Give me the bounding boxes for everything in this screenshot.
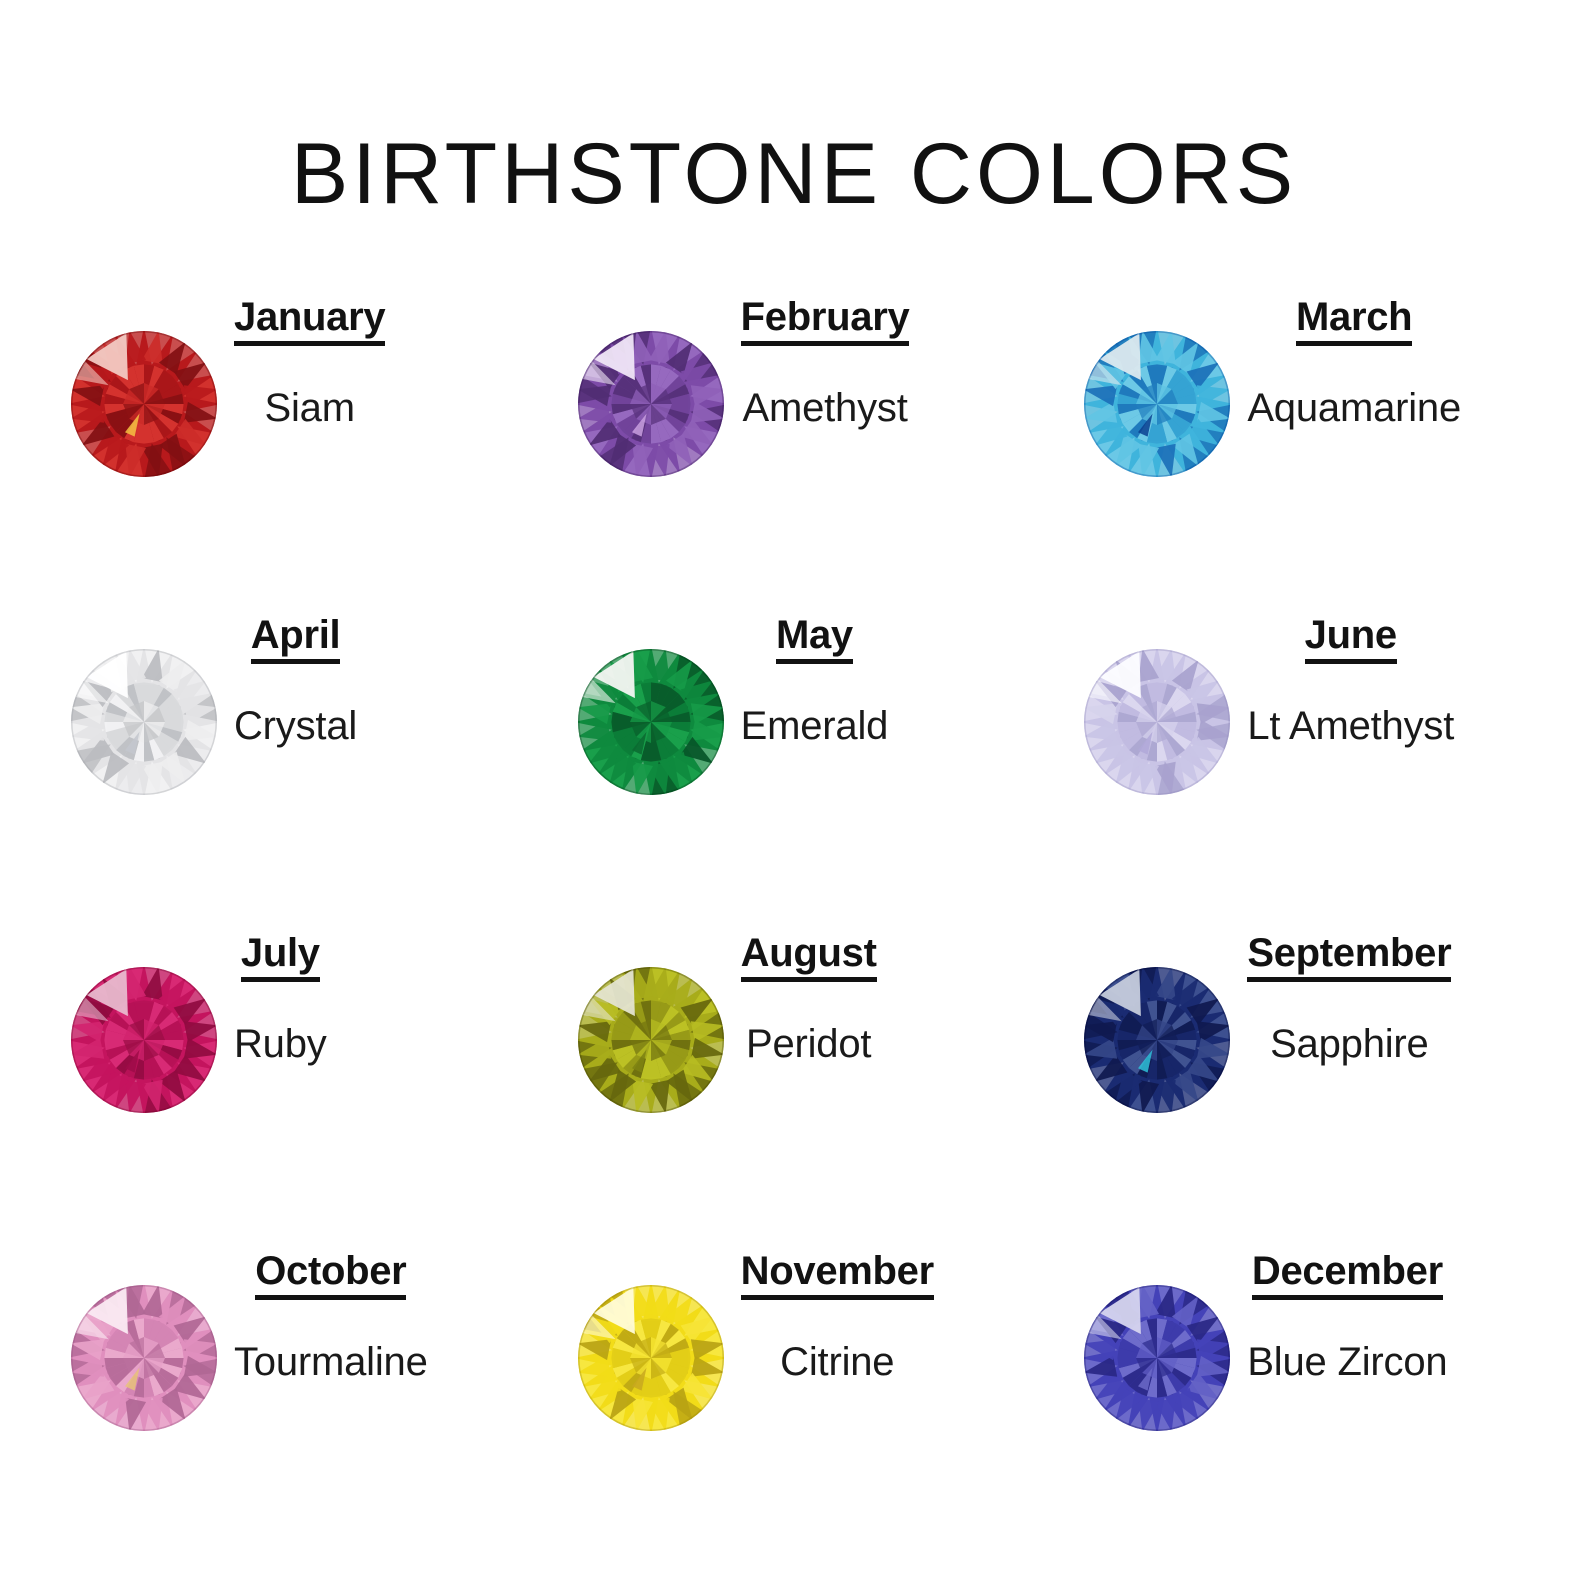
month-underline [741, 341, 910, 346]
stone-name-label: Lt Amethyst [1247, 704, 1454, 749]
birthstone-labels: FebruaryAmethyst [741, 296, 910, 431]
gem-blue-zircon-icon [1081, 1282, 1233, 1434]
month-label: May [776, 614, 853, 656]
stone-name-label: Peridot [746, 1022, 871, 1067]
stone-name-label: Ruby [234, 1022, 327, 1067]
month-label: February [741, 296, 910, 338]
birthstone-labels: AugustPeridot [741, 932, 877, 1067]
gem-aquamarine-icon [1081, 328, 1233, 480]
stone-name-label: Sapphire [1270, 1022, 1429, 1067]
birthstone-cell: AugustPeridot [547, 916, 1054, 1234]
month-label: June [1305, 614, 1397, 656]
month-label-wrap: May [776, 614, 853, 664]
month-label-wrap: August [741, 932, 877, 982]
birthstone-labels: JanuarySiam [234, 296, 385, 431]
month-underline [1247, 977, 1451, 982]
birthstone-grid: JanuarySiamFebruaryAmethystMarchAquamari… [40, 280, 1560, 1552]
birthstone-cell: DecemberBlue Zircon [1053, 1234, 1560, 1552]
month-label-wrap: October [255, 1250, 406, 1300]
birthstone-cell: MayEmerald [547, 598, 1054, 916]
month-label: October [255, 1250, 406, 1292]
stone-name-label: Citrine [780, 1340, 894, 1385]
month-underline [1296, 341, 1412, 346]
month-label-wrap: April [251, 614, 341, 664]
birthstone-chart-page: BIRTHSTONE COLORS JanuarySiamFebruaryAme… [0, 0, 1588, 1587]
stone-name-label: Amethyst [742, 386, 907, 431]
stone-name-label: Siam [264, 386, 354, 431]
month-underline [741, 1295, 934, 1300]
birthstone-labels: DecemberBlue Zircon [1247, 1250, 1447, 1385]
birthstone-cell: JanuarySiam [40, 280, 547, 598]
month-label-wrap: June [1305, 614, 1397, 664]
birthstone-labels: JulyRuby [234, 932, 327, 1067]
birthstone-labels: JuneLt Amethyst [1247, 614, 1454, 749]
month-underline [741, 977, 877, 982]
stone-name-label: Emerald [741, 704, 889, 749]
gem-citrine-icon [575, 1282, 727, 1434]
month-label: April [251, 614, 341, 656]
month-label: January [234, 296, 385, 338]
month-label: March [1296, 296, 1412, 338]
birthstone-labels: OctoberTourmaline [234, 1250, 428, 1385]
birthstone-cell: MarchAquamarine [1053, 280, 1560, 598]
month-label-wrap: November [741, 1250, 934, 1300]
birthstone-labels: NovemberCitrine [741, 1250, 934, 1385]
gem-amethyst-icon [575, 328, 727, 480]
birthstone-labels: MarchAquamarine [1247, 296, 1461, 431]
birthstone-cell: JulyRuby [40, 916, 547, 1234]
month-underline [255, 1295, 406, 1300]
month-underline [234, 341, 385, 346]
month-underline [1252, 1295, 1443, 1300]
month-label: September [1247, 932, 1451, 974]
month-label: August [741, 932, 877, 974]
birthstone-cell: JuneLt Amethyst [1053, 598, 1560, 916]
birthstone-cell: FebruaryAmethyst [547, 280, 1054, 598]
birthstone-cell: AprilCrystal [40, 598, 547, 916]
stone-name-label: Aquamarine [1247, 386, 1461, 431]
gem-ruby-icon [68, 964, 220, 1116]
stone-name-label: Crystal [234, 704, 357, 749]
birthstone-labels: AprilCrystal [234, 614, 357, 749]
stone-name-label: Tourmaline [234, 1340, 428, 1385]
month-label: December [1252, 1250, 1443, 1292]
month-label-wrap: December [1252, 1250, 1443, 1300]
gem-lt-amethyst-icon [1081, 646, 1233, 798]
gem-siam-icon [68, 328, 220, 480]
month-label-wrap: March [1296, 296, 1412, 346]
gem-sapphire-icon [1081, 964, 1233, 1116]
month-label-wrap: January [234, 296, 385, 346]
month-label: November [741, 1250, 934, 1292]
birthstone-labels: MayEmerald [741, 614, 889, 749]
gem-peridot-icon [575, 964, 727, 1116]
month-underline [241, 977, 320, 982]
gem-tourmaline-icon [68, 1282, 220, 1434]
month-underline [1305, 659, 1397, 664]
month-label-wrap: July [241, 932, 320, 982]
birthstone-cell: OctoberTourmaline [40, 1234, 547, 1552]
month-underline [776, 659, 853, 664]
birthstone-cell: SeptemberSapphire [1053, 916, 1560, 1234]
stone-name-label: Blue Zircon [1247, 1340, 1447, 1385]
month-label: July [241, 932, 320, 974]
month-label-wrap: September [1247, 932, 1451, 982]
month-label-wrap: February [741, 296, 910, 346]
month-underline [251, 659, 341, 664]
gem-crystal-icon [68, 646, 220, 798]
birthstone-labels: SeptemberSapphire [1247, 932, 1451, 1067]
page-title: BIRTHSTONE COLORS [0, 125, 1588, 224]
birthstone-cell: NovemberCitrine [547, 1234, 1054, 1552]
gem-emerald-icon [575, 646, 727, 798]
